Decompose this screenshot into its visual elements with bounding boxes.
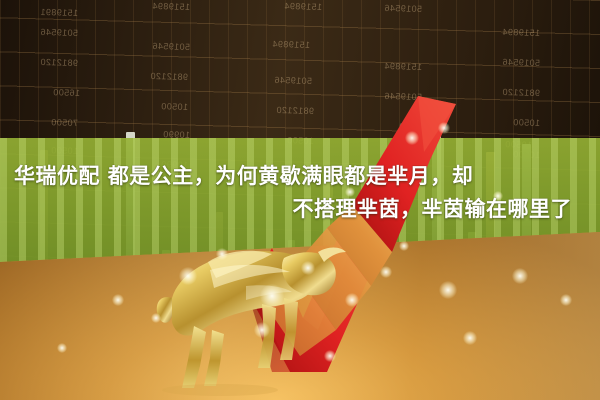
headline-line-2: 不搭理芈茵，芈茵输在哪里了	[14, 193, 586, 226]
headline-text: 华瑞优配 都是公主，为何黄歇满眼都是芈月，却 不搭理芈茵，芈茵输在哪里了	[14, 160, 586, 226]
banner-canvas: 1519891151989415198945019546501954615198…	[0, 0, 600, 400]
golden-bull-statue	[150, 236, 360, 396]
headline-line-1: 华瑞优配 都是公主，为何黄歇满眼都是芈月，却	[14, 160, 586, 193]
